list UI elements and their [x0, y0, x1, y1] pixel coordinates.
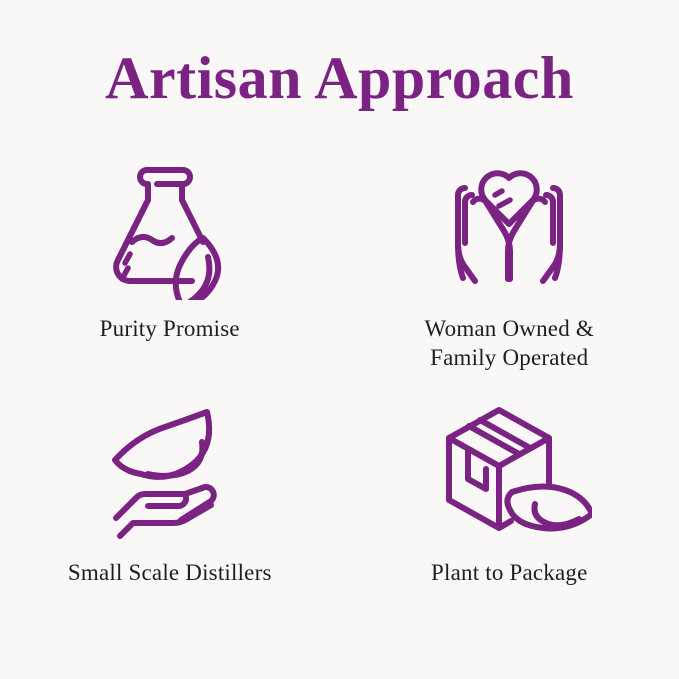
hands-holding-heart-icon [429, 150, 589, 300]
feature-label: Purity Promise [100, 314, 240, 343]
feature-label: Small Scale Distillers [68, 558, 272, 587]
features-grid: Purity Promise [0, 150, 679, 650]
feature-woman-owned[interactable]: Woman Owned & Family Operated [340, 150, 679, 400]
feature-label: Woman Owned & Family Operated [425, 314, 594, 372]
box-leaf-icon [427, 400, 592, 542]
feature-small-scale-distillers[interactable]: Small Scale Distillers [0, 400, 340, 650]
flask-leaf-icon [95, 150, 245, 300]
leaf-in-hand-icon [95, 400, 245, 542]
feature-purity-promise[interactable]: Purity Promise [0, 150, 340, 400]
feature-plant-to-package[interactable]: Plant to Package [340, 400, 679, 650]
page-title: Artisan Approach [0, 42, 679, 114]
artisan-approach-panel: Artisan Approach [0, 0, 679, 679]
feature-label: Plant to Package [431, 558, 588, 587]
